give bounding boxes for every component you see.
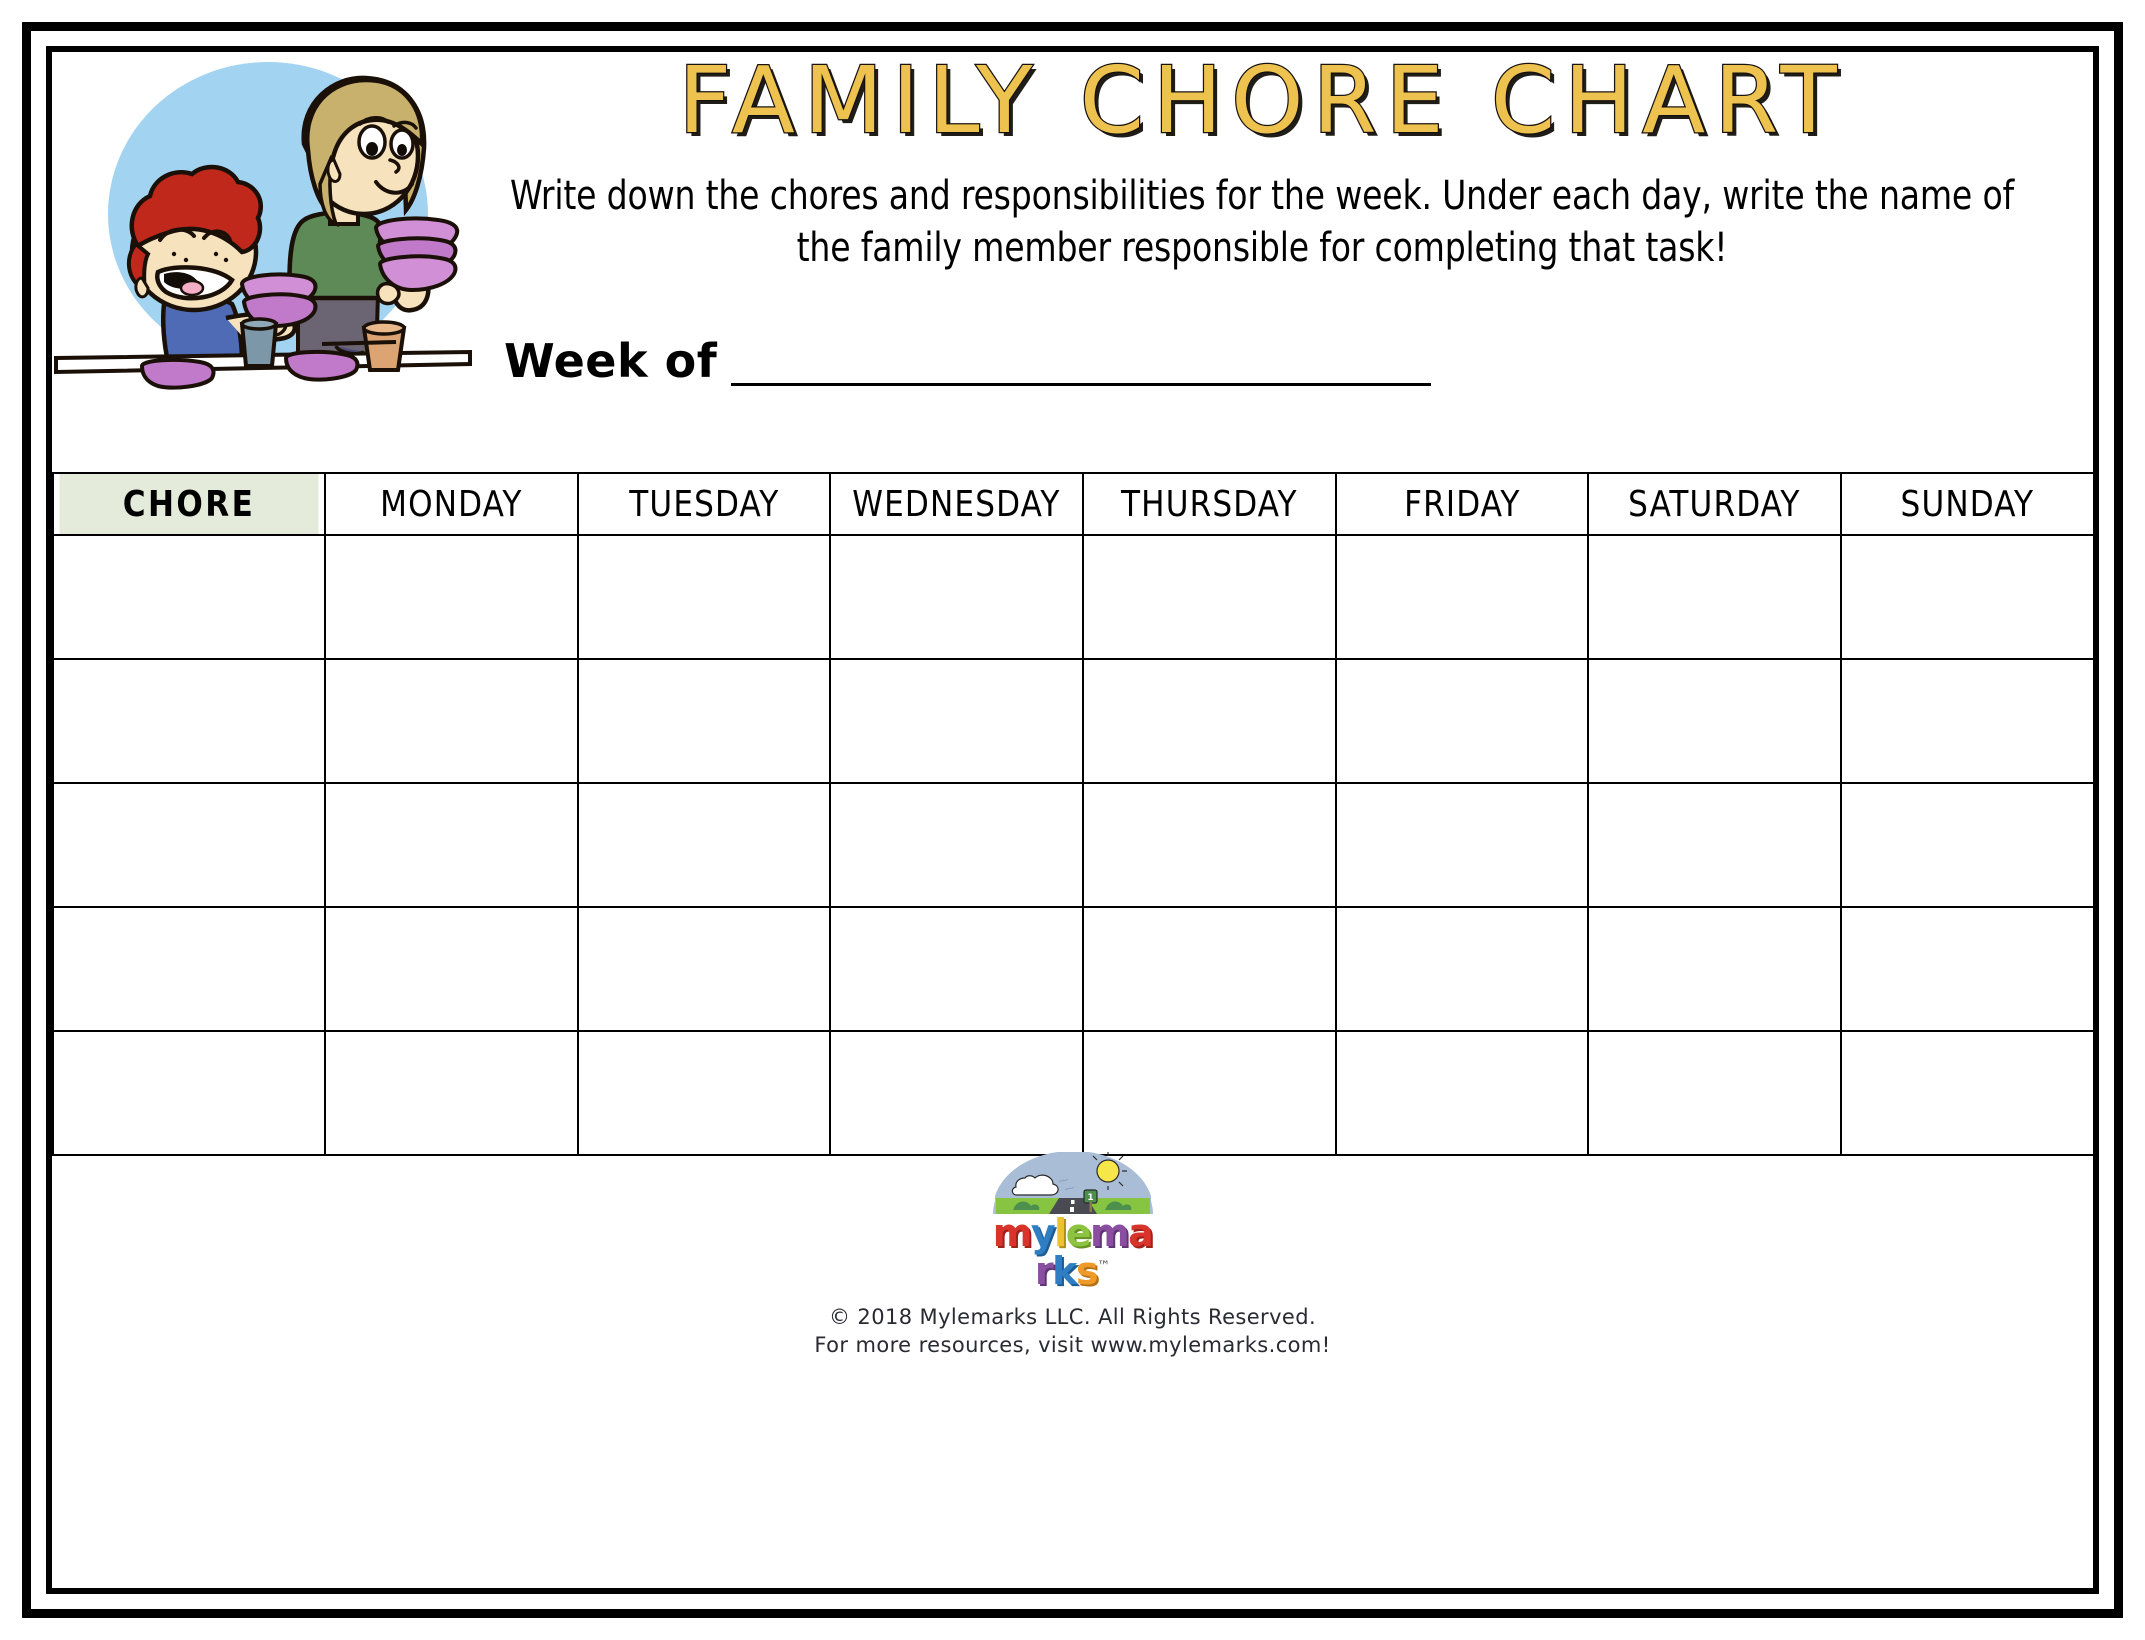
cell-tuesday[interactable] xyxy=(578,535,831,659)
chore-table: CHORE MONDAY TUESDAY WEDNESDAY THURSDAY … xyxy=(52,472,2095,1156)
cell-monday[interactable] xyxy=(325,535,578,659)
column-header-sunday: SUNDAY xyxy=(1846,473,2089,535)
column-header-saturday: SATURDAY xyxy=(1593,473,1836,535)
cell-thursday[interactable] xyxy=(1083,783,1336,907)
cell-tuesday[interactable] xyxy=(578,783,831,907)
copyright-line-1: © 2018 Mylemarks LLC. All Rights Reserve… xyxy=(52,1303,2093,1331)
chore-chart-page: FAMILY CHORE CHART Write down the chores… xyxy=(0,0,2145,1640)
cell-saturday[interactable] xyxy=(1588,535,1841,659)
svg-text:1: 1 xyxy=(1087,1193,1093,1203)
week-of-label: Week of xyxy=(504,334,717,388)
logo-letter: k xyxy=(1052,1252,1076,1290)
logo-letter: s xyxy=(1076,1252,1097,1290)
column-header-thursday: THURSDAY xyxy=(1088,473,1331,535)
column-header-monday: MONDAY xyxy=(330,473,573,535)
cell-tuesday[interactable] xyxy=(578,1031,831,1155)
cell-sunday[interactable] xyxy=(1841,535,2094,659)
copyright-block: © 2018 Mylemarks LLC. All Rights Reserve… xyxy=(52,1303,2093,1360)
column-header-tuesday: TUESDAY xyxy=(583,473,826,535)
page-title: FAMILY CHORE CHART xyxy=(442,42,2082,154)
cell-thursday[interactable] xyxy=(1083,907,1336,1031)
table-header-row: CHORE MONDAY TUESDAY WEDNESDAY THURSDAY … xyxy=(53,473,2094,535)
cell-wednesday[interactable] xyxy=(830,1031,1083,1155)
cell-thursday[interactable] xyxy=(1083,659,1336,783)
cell-chore[interactable] xyxy=(53,783,325,907)
mother-and-child-washing-dishes-illustration xyxy=(46,32,476,392)
cell-wednesday[interactable] xyxy=(830,783,1083,907)
table-row xyxy=(53,659,2094,783)
mylemarks-logo[interactable]: 1 mylemarks™ xyxy=(989,1152,1157,1260)
page-content: FAMILY CHORE CHART Write down the chores… xyxy=(52,52,2093,1588)
cell-chore[interactable] xyxy=(53,535,325,659)
cell-saturday[interactable] xyxy=(1588,659,1841,783)
logo-letter: l xyxy=(1054,1214,1066,1252)
logo-letter: m xyxy=(993,1214,1031,1252)
cell-saturday[interactable] xyxy=(1588,907,1841,1031)
road-sun-cloud-landscape-logo-icon: 1 xyxy=(989,1152,1157,1216)
table-row xyxy=(53,907,2094,1031)
cell-thursday[interactable] xyxy=(1083,535,1336,659)
week-of-field: Week of ________________________________… xyxy=(442,334,2082,388)
logo-letter: a xyxy=(1128,1214,1152,1252)
logo-letter: r xyxy=(1035,1252,1052,1290)
column-header-chore: CHORE xyxy=(58,473,319,535)
cell-monday[interactable] xyxy=(325,1031,578,1155)
cell-tuesday[interactable] xyxy=(578,659,831,783)
cell-sunday[interactable] xyxy=(1841,659,2094,783)
cell-monday[interactable] xyxy=(325,659,578,783)
footer: 1 mylemarks™ © 2018 Mylemarks LLC. All R… xyxy=(52,1152,2093,1360)
cell-wednesday[interactable] xyxy=(830,535,1083,659)
cell-friday[interactable] xyxy=(1336,1031,1589,1155)
header: FAMILY CHORE CHART Write down the chores… xyxy=(52,52,2093,462)
week-of-blank-line[interactable]: _________________________________ xyxy=(731,334,1431,388)
table-row xyxy=(53,1031,2094,1155)
copyright-line-2: For more resources, visit www.mylemarks.… xyxy=(52,1331,2093,1359)
mylemarks-wordmark: mylemarks™ xyxy=(989,1214,1157,1290)
cell-sunday[interactable] xyxy=(1841,1031,2094,1155)
cell-saturday[interactable] xyxy=(1588,1031,1841,1155)
table-row xyxy=(53,783,2094,907)
cell-chore[interactable] xyxy=(53,659,325,783)
instructions-text: Write down the chores and responsibiliti… xyxy=(508,170,2017,274)
table-row xyxy=(53,535,2094,659)
cell-friday[interactable] xyxy=(1336,535,1589,659)
cell-monday[interactable] xyxy=(325,907,578,1031)
cell-friday[interactable] xyxy=(1336,907,1589,1031)
cell-sunday[interactable] xyxy=(1841,783,2094,907)
cell-thursday[interactable] xyxy=(1083,1031,1336,1155)
trademark-symbol: ™ xyxy=(1097,1260,1110,1273)
logo-letter: e xyxy=(1066,1214,1090,1252)
cell-friday[interactable] xyxy=(1336,783,1589,907)
cell-monday[interactable] xyxy=(325,783,578,907)
cell-chore[interactable] xyxy=(53,907,325,1031)
cell-friday[interactable] xyxy=(1336,659,1589,783)
column-header-friday: FRIDAY xyxy=(1341,473,1584,535)
header-text-block: FAMILY CHORE CHART Write down the chores… xyxy=(442,42,2082,388)
logo-letter: m xyxy=(1090,1214,1128,1252)
cell-wednesday[interactable] xyxy=(830,659,1083,783)
cell-chore[interactable] xyxy=(53,1031,325,1155)
cell-tuesday[interactable] xyxy=(578,907,831,1031)
logo-letter: y xyxy=(1031,1214,1054,1252)
cell-wednesday[interactable] xyxy=(830,907,1083,1031)
cell-sunday[interactable] xyxy=(1841,907,2094,1031)
column-header-wednesday: WEDNESDAY xyxy=(835,473,1078,535)
cell-saturday[interactable] xyxy=(1588,783,1841,907)
